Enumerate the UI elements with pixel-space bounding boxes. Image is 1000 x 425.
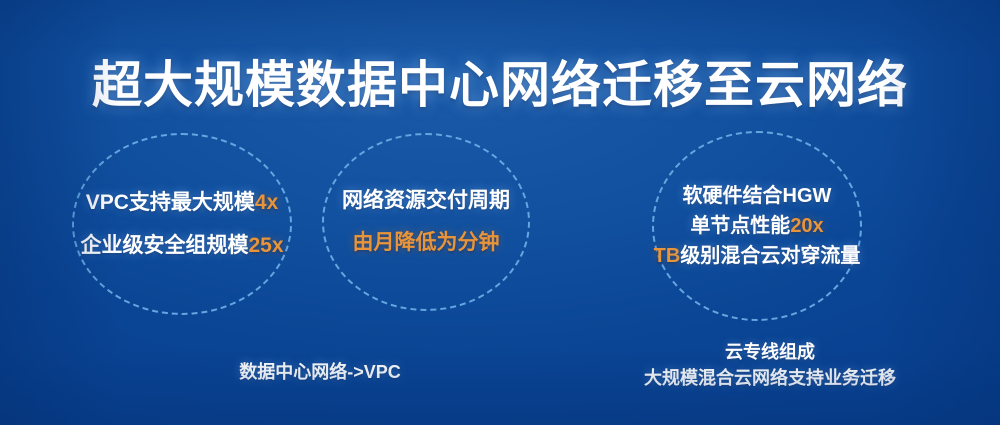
stat-line-prefix: VPC支持最大规模 (86, 191, 255, 214)
stat-line-prefix: 由月降低为分钟 (353, 231, 500, 254)
stat-line-prefix: 软硬件结合HGW (683, 185, 832, 207)
stat-circle-vpc: VPC支持最大规模4x 企业级安全组规模25x (72, 133, 292, 315)
stat-circle-hgw-lines: 软硬件结合HGW 单节点性能20x TB级别混合云对穿流量 (632, 181, 882, 271)
caption-line: 大规模混合云网络支持业务迁移 (600, 366, 940, 392)
stat-circle-delivery: 网络资源交付周期 由月降低为分钟 (322, 133, 530, 311)
stat-line: 软硬件结合HGW (632, 181, 882, 211)
stat-line-highlight: 4x (255, 191, 278, 214)
caption-cloud-line: 云专线组成 大规模混合云网络支持业务迁移 (600, 340, 940, 391)
stat-line-highlight: 25x (248, 234, 283, 257)
page-title: 超大规模数据中心网络迁移至云网络 (0, 58, 1000, 112)
stat-line-prefix: 网络资源交付周期 (342, 189, 510, 212)
caption-datacenter-to-vpc: 数据中心网络->VPC (175, 360, 465, 386)
stat-line-prefix: 企业级安全组规模 (80, 234, 248, 257)
stat-line: TB级别混合云对穿流量 (632, 241, 882, 271)
stat-line: 由月降低为分钟 (302, 222, 550, 264)
stat-circle-hgw: 软硬件结合HGW 单节点性能20x TB级别混合云对穿流量 (652, 131, 862, 321)
stat-line-highlight: 20x (790, 215, 823, 237)
stat-line-suffix: 级别混合云对穿流量 (680, 245, 860, 267)
slide-canvas: 超大规模数据中心网络迁移至云网络 VPC支持最大规模4x 企业级安全组规模25x… (0, 0, 1000, 425)
stat-line: 企业级安全组规模25x (52, 224, 312, 267)
caption-line: 数据中心网络->VPC (175, 360, 465, 386)
stat-circle-vpc-lines: VPC支持最大规模4x 企业级安全组规模25x (52, 181, 312, 267)
stat-line-highlight: TB (654, 245, 681, 267)
stat-circle-delivery-lines: 网络资源交付周期 由月降低为分钟 (302, 180, 550, 264)
stat-line: 网络资源交付周期 (302, 180, 550, 222)
caption-line: 云专线组成 (600, 340, 940, 366)
stat-line: VPC支持最大规模4x (52, 181, 312, 224)
stat-line-prefix: 单节点性能 (690, 215, 790, 237)
stat-line: 单节点性能20x (632, 211, 882, 241)
